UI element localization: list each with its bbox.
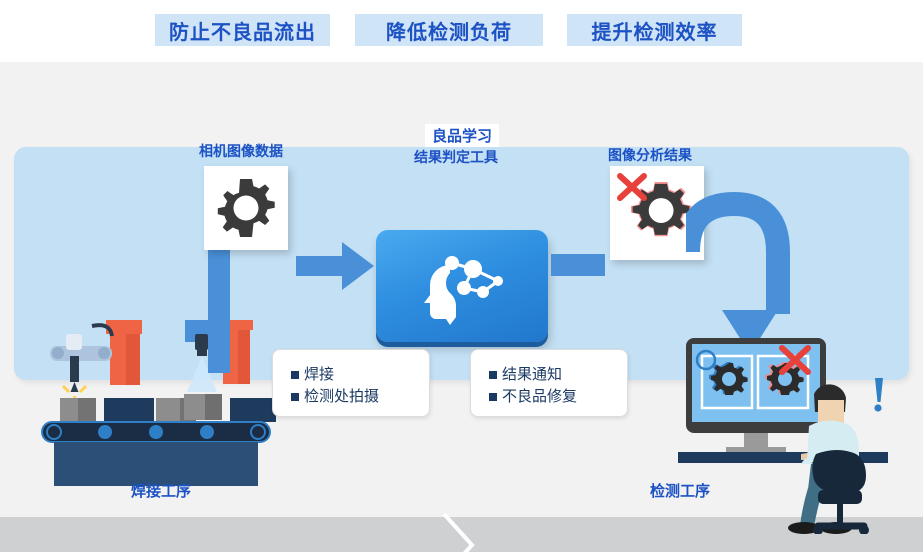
bullet-square-icon	[489, 371, 497, 379]
ai-judgement-box	[376, 230, 548, 342]
conveyor-belt-icon	[42, 422, 270, 486]
scene: 相机图像数据 良品学习 结果判定工具	[0, 62, 923, 552]
header-badge-row: 防止不良品流出 降低检测负荷 提升检测效率	[0, 0, 923, 62]
bullet-square-icon	[291, 393, 299, 401]
chevron-right-divider-icon	[424, 512, 484, 552]
weld-info-card: 焊接 检测处拍摄	[272, 349, 430, 417]
process-label-inspect: 检测工序	[650, 480, 710, 501]
ai-to-result-connector-icon	[551, 254, 605, 276]
camera-gear-card	[204, 166, 288, 250]
list-item: 不良品修复	[489, 386, 609, 408]
header-badge-3: 提升检测效率	[567, 14, 742, 46]
list-item: 结果通知	[489, 364, 609, 386]
ai-tool-label: 结果判定工具	[414, 147, 498, 167]
bullet-square-icon	[291, 371, 299, 379]
camera-data-label: 相机图像数据	[199, 141, 283, 161]
weld-item-0: 焊接	[304, 364, 334, 386]
inspect-item-1: 不良品修复	[502, 386, 577, 408]
ai-highlight-badge: 良品学习	[425, 124, 499, 147]
header-badge-1: 防止不良品流出	[155, 14, 330, 46]
ai-brain-network-icon	[416, 247, 508, 325]
process-label-weld: 焊接工序	[131, 480, 191, 501]
inspect-info-card: 结果通知 不良品修复	[470, 349, 628, 417]
gear-icon	[214, 176, 278, 240]
list-item: 检测处拍摄	[291, 386, 411, 408]
arrow-right-icon	[296, 240, 374, 292]
weld-item-1: 检测处拍摄	[304, 386, 379, 408]
inspection-monitor-icon	[686, 338, 826, 455]
vertical-connector-icon	[208, 247, 230, 373]
inspect-item-0: 结果通知	[502, 364, 562, 386]
bullet-square-icon	[489, 393, 497, 401]
header-badge-2: 降低检测负荷	[355, 14, 543, 46]
inspection-station-illustration	[678, 334, 923, 534]
analysis-result-label: 图像分析结果	[608, 145, 692, 165]
alert-mark-icon	[874, 378, 883, 412]
list-item: 焊接	[291, 364, 411, 386]
diagram-root: 防止不良品流出 降低检测负荷 提升检测效率	[0, 0, 923, 552]
